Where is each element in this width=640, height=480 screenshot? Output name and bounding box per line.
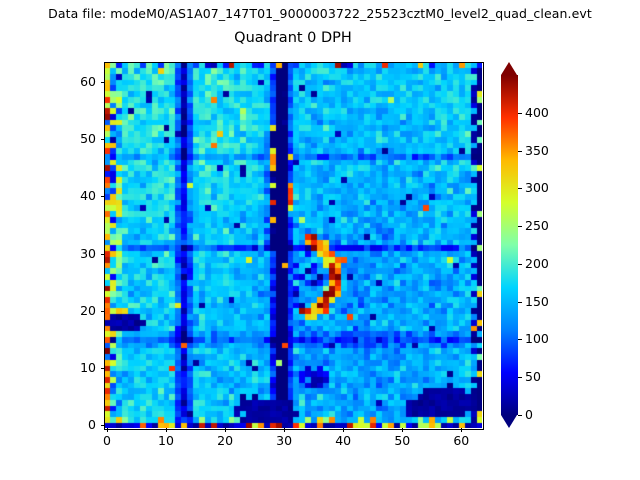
- y-tick-label: 40: [56, 188, 96, 203]
- x-tick-label: 50: [382, 433, 422, 448]
- colorbar-tick: [518, 264, 522, 265]
- colorbar-tick: [518, 339, 522, 340]
- x-tick: [343, 428, 344, 432]
- y-tick-label: 10: [56, 360, 96, 375]
- colorbar-tick-label: 200: [525, 256, 549, 271]
- colorbar-gradient: [501, 75, 518, 415]
- y-tick: [101, 196, 105, 197]
- x-tick: [461, 428, 462, 432]
- y-tick: [101, 425, 105, 426]
- colorbar-tick-label: 400: [525, 105, 549, 120]
- colorbar-tick: [518, 226, 522, 227]
- colorbar-tick-label: 300: [525, 180, 549, 195]
- x-tick: [284, 428, 285, 432]
- colorbar-tick-label: 100: [525, 331, 549, 346]
- colorbar-tick: [518, 188, 522, 189]
- x-tick-label: 10: [146, 433, 186, 448]
- y-tick-label: 0: [56, 417, 96, 432]
- x-tick: [402, 428, 403, 432]
- y-tick-label: 50: [56, 131, 96, 146]
- colorbar[interactable]: [501, 62, 518, 428]
- page-title: Quadrant 0 DPH: [104, 30, 482, 46]
- x-tick-label: 30: [264, 433, 304, 448]
- colorbar-tick: [518, 151, 522, 152]
- y-tick: [101, 139, 105, 140]
- colorbar-tick-label: 0: [525, 407, 533, 422]
- data-file-suptitle: Data file: modeM0/AS1A07_147T01_90000037…: [0, 6, 640, 21]
- colorbar-extend-max-arrow: [501, 62, 517, 75]
- colorbar-tick-label: 50: [525, 369, 541, 384]
- x-tick-label: 40: [323, 433, 363, 448]
- x-tick-label: 0: [87, 433, 127, 448]
- colorbar-tick: [518, 113, 522, 114]
- heatmap-axes[interactable]: [104, 62, 482, 428]
- x-tick: [107, 428, 108, 432]
- colorbar-tick: [518, 302, 522, 303]
- heatmap-image[interactable]: [104, 62, 482, 428]
- x-tick: [225, 428, 226, 432]
- colorbar-tick: [518, 415, 522, 416]
- x-tick-label: 60: [441, 433, 481, 448]
- y-tick: [101, 311, 105, 312]
- colorbar-tick-label: 250: [525, 218, 549, 233]
- colorbar-tick-label: 350: [525, 143, 549, 158]
- colorbar-tick-label: 150: [525, 294, 549, 309]
- x-tick: [166, 428, 167, 432]
- y-tick: [101, 254, 105, 255]
- matplotlib-figure: Data file: modeM0/AS1A07_147T01_90000037…: [0, 0, 640, 480]
- y-tick-label: 30: [56, 246, 96, 261]
- y-tick-label: 20: [56, 303, 96, 318]
- y-tick-label: 60: [56, 74, 96, 89]
- x-tick-label: 20: [205, 433, 245, 448]
- colorbar-tick: [518, 377, 522, 378]
- y-tick: [101, 82, 105, 83]
- y-tick: [101, 368, 105, 369]
- colorbar-extend-min-arrow: [501, 415, 517, 428]
